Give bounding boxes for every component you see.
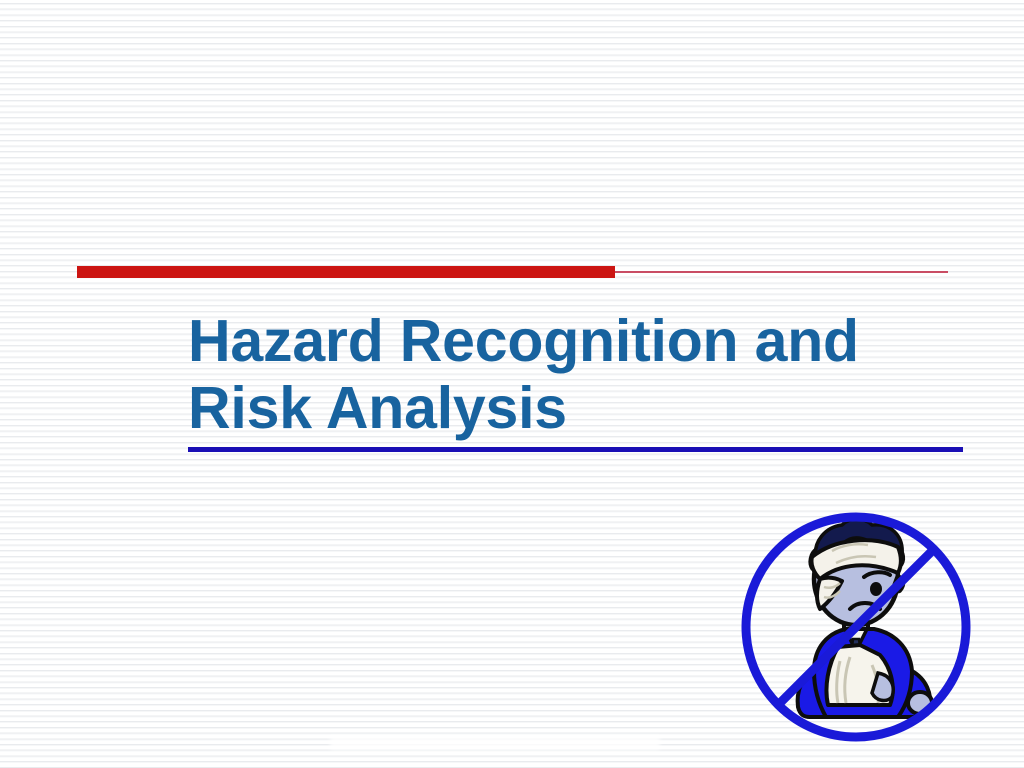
scan-artifact bbox=[330, 736, 660, 750]
thick-red-rule bbox=[77, 266, 615, 278]
blue-underline-rule bbox=[188, 447, 963, 452]
page-title: Hazard Recognition and Risk Analysis bbox=[188, 308, 988, 441]
no-injury-prohibition-sign bbox=[740, 505, 976, 755]
slide-title-block: Hazard Recognition and Risk Analysis bbox=[188, 308, 988, 441]
presentation-slide: Hazard Recognition and Risk Analysis bbox=[0, 0, 1024, 768]
